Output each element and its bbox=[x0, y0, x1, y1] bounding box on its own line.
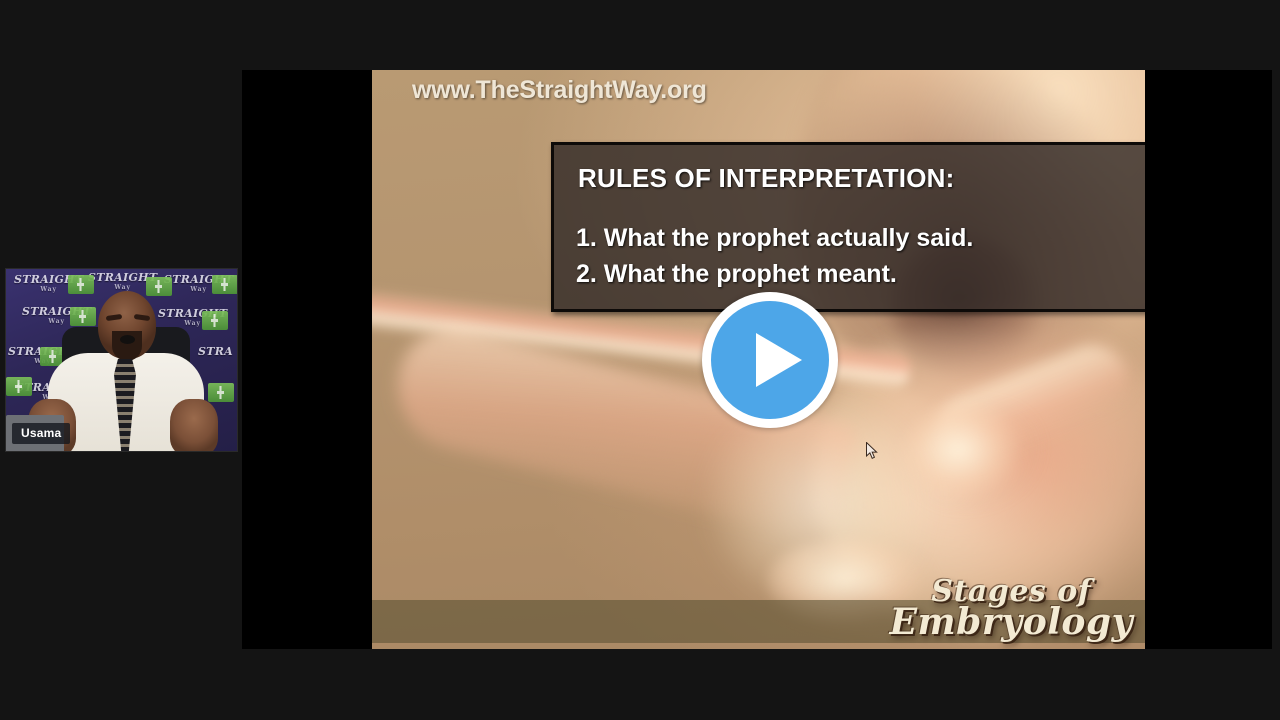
watermark-url-text: www.TheStraightWay.org bbox=[412, 76, 707, 105]
screen-root: RULES OF INTERPRETATION: 1. What the pro… bbox=[0, 0, 1280, 720]
backdrop-emblem bbox=[208, 383, 234, 402]
video-player[interactable]: RULES OF INTERPRETATION: 1. What the pro… bbox=[372, 70, 1145, 649]
participant-name-badge: Usama bbox=[12, 423, 70, 444]
backdrop-logo-text: STRA bbox=[198, 345, 233, 358]
watermark-bar bbox=[372, 600, 1145, 643]
backdrop-emblem bbox=[70, 307, 96, 326]
backdrop-emblem bbox=[68, 275, 94, 294]
backdrop-emblem bbox=[202, 311, 228, 330]
mouth-shape bbox=[120, 335, 135, 344]
play-icon bbox=[756, 333, 802, 387]
play-button[interactable] bbox=[702, 292, 838, 428]
backdrop-emblem bbox=[212, 275, 238, 294]
embryo-glow-shape bbox=[702, 400, 932, 610]
backdrop-emblem bbox=[146, 277, 172, 296]
mouse-cursor-icon bbox=[866, 442, 878, 460]
participant-video-tile[interactable]: STRAIGHTWay STRAIGHTWay STRAIGHTWay STRA… bbox=[5, 268, 238, 452]
shared-screen-stage: RULES OF INTERPRETATION: 1. What the pro… bbox=[242, 70, 1272, 649]
caption-box: RULES OF INTERPRETATION: 1. What the pro… bbox=[551, 142, 1145, 312]
caption-line-2: 2. What the prophet meant. bbox=[576, 260, 1145, 289]
caption-line-1: 1. What the prophet actually said. bbox=[576, 224, 1145, 253]
caption-title: RULES OF INTERPRETATION: bbox=[578, 163, 1145, 194]
right-hand-shape bbox=[170, 399, 218, 452]
backdrop-emblem bbox=[6, 377, 32, 396]
